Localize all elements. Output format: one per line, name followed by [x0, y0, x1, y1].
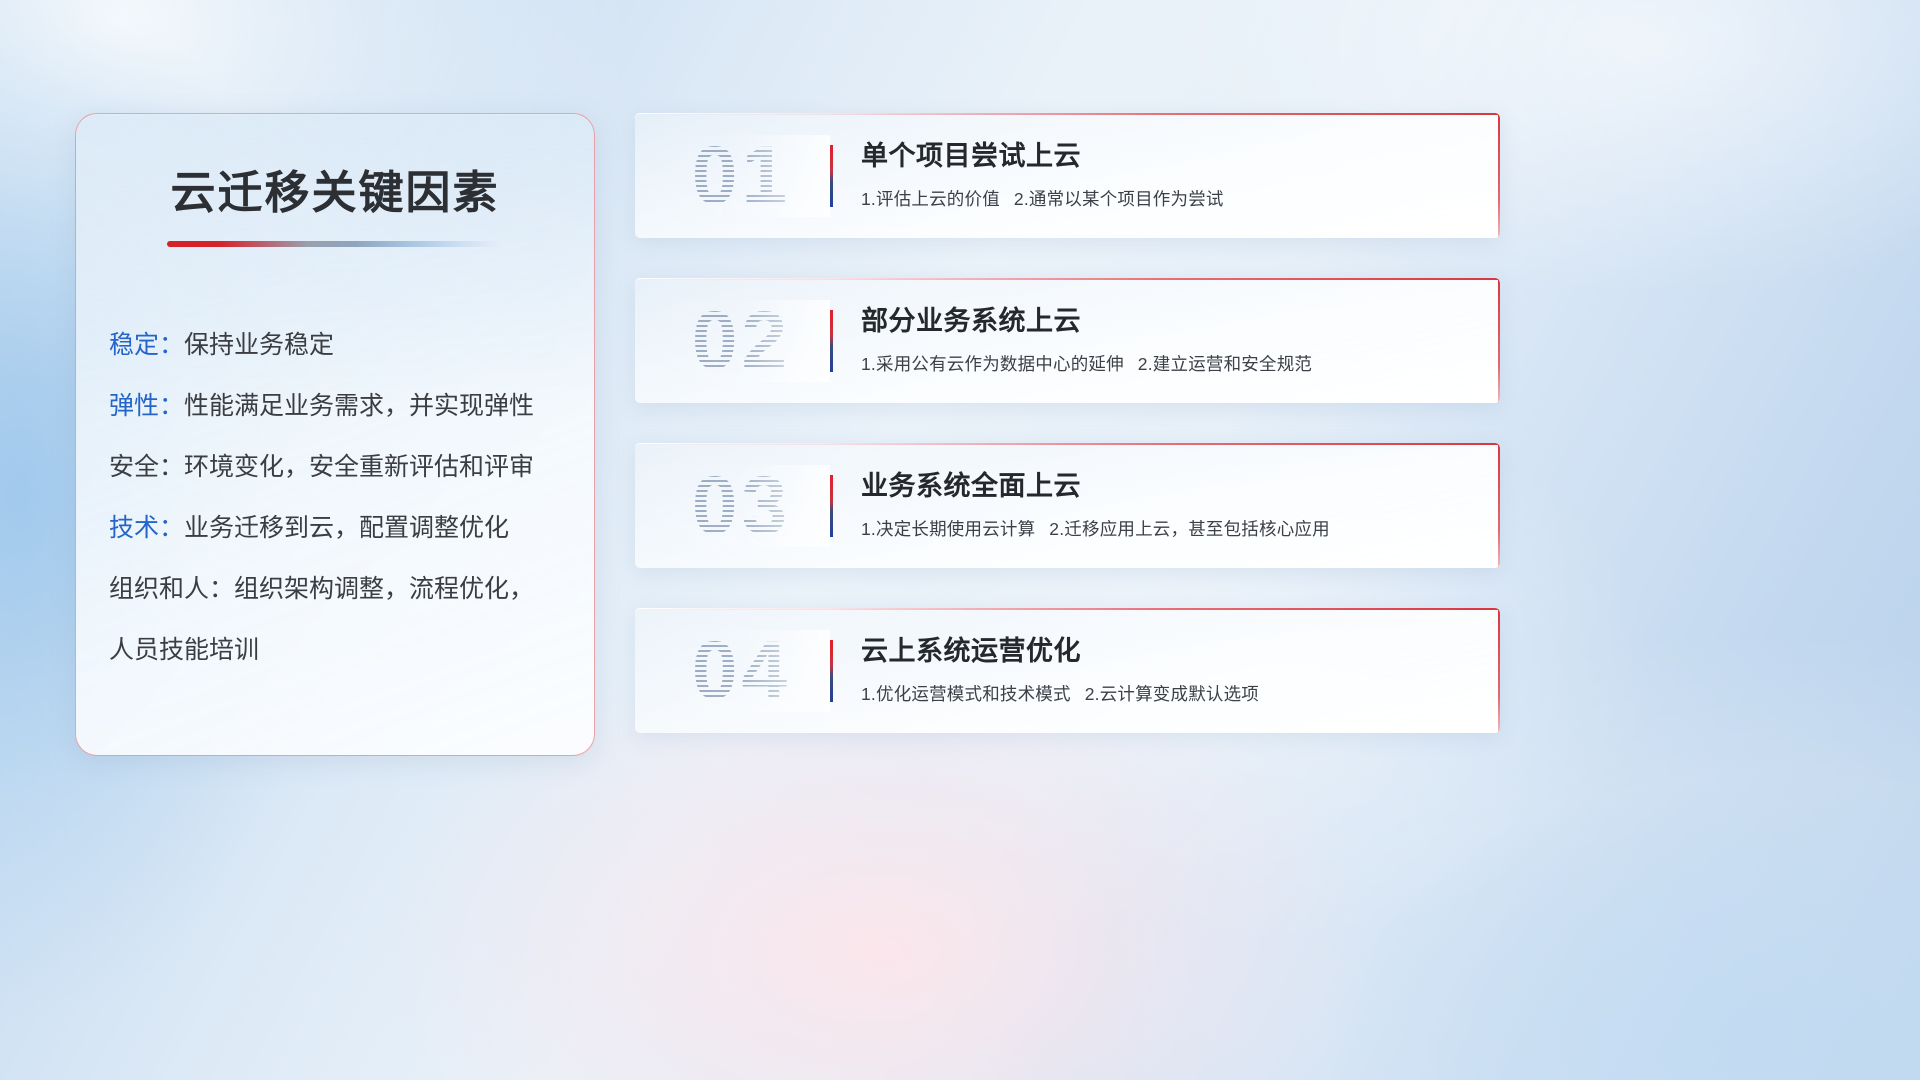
migration-stages-list: 01 单个项目尝试上云 1.评估上云的价值2.通常以某个项目作为尝试 02 部分…: [635, 113, 1500, 773]
stage-number-text: 01: [692, 135, 791, 217]
list-item-label: 稳定：: [109, 331, 184, 359]
stage-number-text: 04: [692, 630, 791, 712]
stage-number-text: 03: [692, 465, 791, 547]
list-item: 人员技能培训: [109, 620, 594, 681]
stage-divider-bar: [830, 145, 833, 207]
slide-stage: 云迁移关键因素 稳定：保持业务稳定 弹性：性能满足业务需求，并实现弹性 安全：环…: [0, 0, 1920, 1080]
list-item-label: 安全：: [109, 453, 184, 481]
list-item-text: 保持业务稳定: [184, 331, 334, 359]
key-factors-list: 稳定：保持业务稳定 弹性：性能满足业务需求，并实现弹性 安全：环境变化，安全重新…: [109, 315, 594, 681]
stage-description: 1.评估上云的价值2.通常以某个项目作为尝试: [861, 186, 1470, 211]
stage-description-part-2: 2.迁移应用上云，甚至包括核心应用: [1049, 519, 1330, 539]
stage-title: 部分业务系统上云: [861, 305, 1470, 337]
stage-title: 单个项目尝试上云: [861, 140, 1470, 172]
stage-description-part-1: 1.评估上云的价值: [861, 189, 1000, 209]
stage-content-01: 单个项目尝试上云 1.评估上云的价值2.通常以某个项目作为尝试: [861, 140, 1500, 210]
stage-description: 1.决定长期使用云计算2.迁移应用上云，甚至包括核心应用: [861, 516, 1470, 541]
stage-title: 云上系统运营优化: [861, 635, 1470, 667]
stage-number-01: 01: [635, 135, 830, 217]
stage-description-part-1: 1.采用公有云作为数据中心的延伸: [861, 354, 1124, 374]
stage-number-04: 04: [635, 630, 830, 712]
list-item: 技术：业务迁移到云，配置调整优化: [109, 498, 594, 559]
stage-description: 1.优化运营模式和技术模式2.云计算变成默认选项: [861, 681, 1470, 706]
stage-content-04: 云上系统运营优化 1.优化运营模式和技术模式2.云计算变成默认选项: [861, 635, 1500, 705]
page-title: 云迁移关键因素: [76, 156, 594, 221]
key-factors-panel: 云迁移关键因素 稳定：保持业务稳定 弹性：性能满足业务需求，并实现弹性 安全：环…: [75, 113, 595, 756]
stage-divider-bar: [830, 475, 833, 537]
stage-title: 业务系统全面上云: [861, 470, 1470, 502]
stage-description-part-2: 2.云计算变成默认选项: [1085, 684, 1259, 704]
list-item: 弹性：性能满足业务需求，并实现弹性: [109, 376, 594, 437]
stage-description-part-2: 2.建立运营和安全规范: [1138, 354, 1312, 374]
stage-card-04[interactable]: 04 云上系统运营优化 1.优化运营模式和技术模式2.云计算变成默认选项: [635, 608, 1500, 733]
title-underline-bar: [167, 241, 503, 247]
stage-divider-bar: [830, 310, 833, 372]
list-item-text: 组织架构调整，流程优化，: [234, 575, 534, 603]
stage-description-part-1: 1.优化运营模式和技术模式: [861, 684, 1071, 704]
stage-number-02: 02: [635, 300, 830, 382]
stage-content-03: 业务系统全面上云 1.决定长期使用云计算2.迁移应用上云，甚至包括核心应用: [861, 470, 1500, 540]
stage-content-02: 部分业务系统上云 1.采用公有云作为数据中心的延伸2.建立运营和安全规范: [861, 305, 1500, 375]
stage-number-text: 02: [692, 300, 791, 382]
stage-description: 1.采用公有云作为数据中心的延伸2.建立运营和安全规范: [861, 351, 1470, 376]
list-item-label: 组织和人：: [109, 575, 234, 603]
stage-divider-bar: [830, 640, 833, 702]
list-item-text: 环境变化，安全重新评估和评审: [184, 453, 534, 481]
list-item: 安全：环境变化，安全重新评估和评审: [109, 437, 594, 498]
list-item-text: 性能满足业务需求，并实现弹性: [184, 392, 534, 420]
stage-card-01[interactable]: 01 单个项目尝试上云 1.评估上云的价值2.通常以某个项目作为尝试: [635, 113, 1500, 238]
list-item-label: 技术：: [109, 514, 184, 542]
list-item-text: 业务迁移到云，配置调整优化: [184, 514, 509, 542]
list-item: 稳定：保持业务稳定: [109, 315, 594, 376]
stage-card-03[interactable]: 03 业务系统全面上云 1.决定长期使用云计算2.迁移应用上云，甚至包括核心应用: [635, 443, 1500, 568]
stage-description-part-1: 1.决定长期使用云计算: [861, 519, 1035, 539]
list-item-label: 弹性：: [109, 392, 184, 420]
stage-number-03: 03: [635, 465, 830, 547]
list-item: 组织和人：组织架构调整，流程优化，: [109, 559, 594, 620]
stage-card-02[interactable]: 02 部分业务系统上云 1.采用公有云作为数据中心的延伸2.建立运营和安全规范: [635, 278, 1500, 403]
stage-description-part-2: 2.通常以某个项目作为尝试: [1014, 189, 1224, 209]
list-item-text: 人员技能培训: [109, 636, 259, 664]
